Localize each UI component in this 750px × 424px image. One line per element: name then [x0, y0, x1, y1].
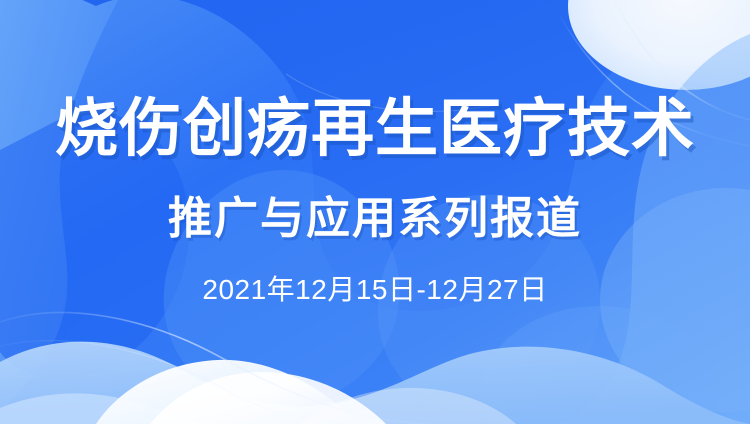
- banner-dateline: 2021年12月15日-12月27日: [0, 276, 750, 304]
- banner-subtitle: 推广与应用系列报道: [0, 197, 750, 241]
- banner-content: 烧伤创疡再生医疗技术 推广与应用系列报道 2021年12月15日-12月27日: [0, 0, 750, 424]
- banner-title: 烧伤创疡再生医疗技术: [0, 98, 750, 161]
- promo-banner: 烧伤创疡再生医疗技术 推广与应用系列报道 2021年12月15日-12月27日: [0, 0, 750, 424]
